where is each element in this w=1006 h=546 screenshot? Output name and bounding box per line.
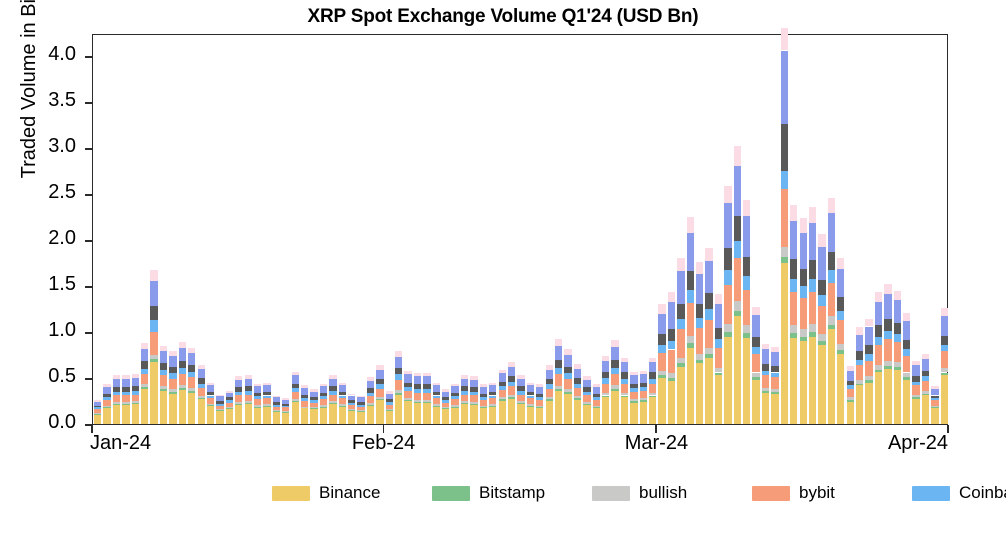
bar-segment-coinbase xyxy=(555,368,562,374)
bar-segment-bitstamp xyxy=(593,407,600,408)
stacked-bar xyxy=(141,343,148,424)
bar-segment-upbit xyxy=(621,362,628,372)
bar-segment-coinbase xyxy=(630,388,637,392)
bar-segment-okex xyxy=(169,367,176,373)
bar-segment-bybit xyxy=(357,407,364,411)
bar-segment-binance xyxy=(574,400,581,424)
legend-label: Bitstamp xyxy=(479,483,545,503)
bar-segment-bullish xyxy=(640,398,647,400)
bar-segment-binance xyxy=(649,397,656,424)
bar-segment-bitstamp xyxy=(790,333,797,338)
bar-segment-upbit xyxy=(931,389,938,395)
bar-segment-bybit xyxy=(649,384,656,393)
bar-segment-okex xyxy=(94,406,101,408)
bar-segment-coinbase xyxy=(818,295,825,306)
bar-segment-upbit xyxy=(461,379,468,386)
bar-segment-binance xyxy=(451,407,458,424)
stacked-bar xyxy=(931,386,938,424)
bar-segment-bullish xyxy=(546,397,553,399)
bar-segment-bybit xyxy=(903,356,910,373)
bar-segment-bullish xyxy=(423,400,430,402)
bar-segment-coinbase xyxy=(762,371,769,376)
y-tick-label: 0.5 xyxy=(48,365,76,388)
bar-segment-bitstamp xyxy=(376,399,383,400)
bar-segment-okex xyxy=(865,345,872,354)
bar-segment-bitstamp xyxy=(809,332,816,337)
bar-segment-coinbase xyxy=(828,270,835,283)
bar-segment-bybit xyxy=(743,290,750,325)
bar-segment-bitstamp xyxy=(640,400,647,402)
bar-segment-binance xyxy=(254,407,261,424)
bar-segment-bullish xyxy=(856,380,863,384)
bar-segment-bitstamp xyxy=(564,392,571,394)
bar-segment-okex xyxy=(884,319,891,331)
bar-segment-okex xyxy=(583,387,590,392)
bar-segment-bullish xyxy=(480,406,487,408)
bar-segment-others xyxy=(602,356,609,361)
bar-segment-upbit xyxy=(564,355,571,367)
bar-segment-others xyxy=(301,385,308,388)
stacked-bar xyxy=(254,384,261,424)
legend-item-coinbase[interactable]: Coinbase xyxy=(912,483,1006,503)
bar-segment-okex xyxy=(442,397,449,400)
bar-segment-bitstamp xyxy=(602,396,609,398)
bar-segment-coinbase xyxy=(395,374,402,380)
bar-segment-coinbase xyxy=(235,392,242,396)
bar-segment-binance xyxy=(461,404,468,424)
bar-segment-bybit xyxy=(640,391,647,398)
bar-segment-bybit xyxy=(263,398,270,404)
bar-segment-upbit xyxy=(301,388,308,394)
bar-segment-okex xyxy=(941,336,948,345)
bar-segment-others xyxy=(160,346,167,352)
stacked-bar xyxy=(715,294,722,424)
bar-segment-coinbase xyxy=(593,397,600,400)
bar-segment-bullish xyxy=(207,404,214,405)
bar-segment-others xyxy=(188,348,195,354)
bar-segment-bullish xyxy=(470,402,477,404)
stacked-bar xyxy=(367,377,374,424)
bar-segment-bitstamp xyxy=(677,363,684,367)
bar-segment-okex xyxy=(499,382,506,387)
bar-segment-bybit xyxy=(499,390,506,397)
bar-segment-upbit xyxy=(640,374,647,382)
bar-segment-binance xyxy=(781,263,788,424)
bar-segment-bitstamp xyxy=(818,341,825,345)
bar-segment-bullish xyxy=(310,407,317,408)
bar-segment-bitstamp xyxy=(254,407,261,408)
bar-segment-bybit xyxy=(367,396,374,402)
y-tick-label: 1.5 xyxy=(48,273,76,296)
bar-segment-binance xyxy=(442,409,449,424)
bar-segment-binance xyxy=(621,397,628,424)
bar-segment-others xyxy=(847,366,854,371)
bar-segment-coinbase xyxy=(734,241,741,258)
bar-segment-upbit xyxy=(922,359,929,371)
stacked-bar xyxy=(809,207,816,424)
bar-segment-bitstamp xyxy=(865,380,872,383)
bar-segment-bitstamp xyxy=(207,405,214,406)
bar-segment-binance xyxy=(499,401,506,424)
bar-segment-coinbase xyxy=(169,373,176,379)
bar-segment-upbit xyxy=(527,385,534,391)
bar-segment-okex xyxy=(141,361,148,368)
bar-segment-bullish xyxy=(583,402,590,404)
bar-segment-bybit xyxy=(226,403,233,408)
bar-segment-bitstamp xyxy=(903,377,910,380)
bar-segment-bitstamp xyxy=(499,399,506,401)
bar-segment-others xyxy=(687,217,694,233)
stacked-bar xyxy=(282,398,289,424)
y-tick-label: 3.5 xyxy=(48,89,76,112)
bar-segment-coinbase xyxy=(696,318,703,328)
bar-segment-bitstamp xyxy=(668,378,675,381)
bar-segment-others xyxy=(339,383,346,386)
bar-segment-coinbase xyxy=(527,396,534,399)
y-tick-label: 0.0 xyxy=(48,411,76,434)
stacked-bar xyxy=(611,340,618,424)
bar-segment-bitstamp xyxy=(113,404,120,405)
bar-segment-coinbase xyxy=(263,396,270,399)
bar-segment-coinbase xyxy=(245,391,252,395)
bar-segment-coinbase xyxy=(489,396,496,399)
bar-segment-okex xyxy=(658,334,665,345)
bar-segment-binance xyxy=(423,403,430,424)
legend-item-bitstamp[interactable]: Bitstamp xyxy=(432,483,592,503)
bar-segment-bitstamp xyxy=(856,384,863,386)
bar-segment-others xyxy=(790,205,797,221)
bar-segment-okex xyxy=(790,259,797,278)
bar-segment-bullish xyxy=(677,358,684,364)
bar-segment-bullish xyxy=(169,389,176,392)
bar-segment-okex xyxy=(188,365,195,371)
bar-segment-bullish xyxy=(301,407,308,408)
bar-segment-others xyxy=(216,395,223,397)
bar-segment-binance xyxy=(103,408,110,424)
bar-segment-upbit xyxy=(630,375,637,383)
bar-segment-upbit xyxy=(649,362,656,372)
bar-segment-binance xyxy=(489,407,496,424)
bar-segment-others xyxy=(480,384,487,387)
bar-segment-coinbase xyxy=(884,331,891,339)
bar-segment-bitstamp xyxy=(527,406,534,407)
legend-item-binance[interactable]: Binance xyxy=(272,483,432,503)
bar-segment-others xyxy=(451,384,458,387)
bar-segment-okex xyxy=(179,361,186,368)
bar-segment-bullish xyxy=(630,399,637,401)
bar-segment-others xyxy=(593,384,600,387)
bar-segment-coinbase xyxy=(216,404,223,406)
bar-segment-bullish xyxy=(160,386,167,389)
bar-segment-okex xyxy=(310,397,317,400)
bar-segment-bitstamp xyxy=(301,407,308,408)
legend-item-bybit[interactable]: bybit xyxy=(752,483,912,503)
bar-segment-coinbase xyxy=(329,391,336,395)
legend-item-bullish[interactable]: bullish xyxy=(592,483,752,503)
bar-segment-okex xyxy=(376,379,383,385)
bar-segment-others xyxy=(414,373,421,377)
bar-segment-upbit xyxy=(386,394,393,400)
bar-segment-bybit xyxy=(696,328,703,354)
stacked-bar xyxy=(837,258,844,424)
bar-segment-binance xyxy=(583,405,590,424)
bar-segment-bitstamp xyxy=(245,403,252,404)
bar-segment-bybit xyxy=(254,399,261,405)
bar-segment-bullish xyxy=(132,401,139,403)
stacked-bar xyxy=(922,354,929,424)
bar-segment-okex xyxy=(818,280,825,296)
bar-segment-bybit xyxy=(160,375,167,386)
bar-segment-bybit xyxy=(489,398,496,404)
bar-segment-others xyxy=(912,361,919,366)
bar-segment-bullish xyxy=(188,388,195,391)
bar-segment-bullish xyxy=(564,389,571,392)
bar-segment-coinbase xyxy=(254,396,261,399)
bar-segment-okex xyxy=(357,402,364,405)
bar-segment-binance xyxy=(856,385,863,424)
bar-segment-upbit xyxy=(941,316,948,335)
bar-segment-others xyxy=(235,376,242,380)
bar-segment-binance xyxy=(658,378,665,424)
stacked-bar xyxy=(188,348,195,424)
bar-segment-others xyxy=(517,375,524,379)
stacked-bar xyxy=(489,383,496,424)
bar-segment-coinbase xyxy=(705,309,712,320)
bar-segment-upbit xyxy=(790,221,797,260)
bar-segment-binance xyxy=(198,399,205,424)
bar-segment-bitstamp xyxy=(480,407,487,408)
bar-segment-bybit xyxy=(724,285,731,324)
stacked-bar xyxy=(649,358,656,424)
bar-segment-coinbase xyxy=(800,286,807,298)
bar-segment-others xyxy=(828,198,835,214)
bar-segment-upbit xyxy=(198,369,205,378)
bar-segment-bullish xyxy=(517,401,524,403)
bar-segment-coinbase xyxy=(574,384,581,389)
bar-segment-bybit xyxy=(198,388,205,396)
bar-segment-bitstamp xyxy=(583,404,590,405)
bar-segment-okex xyxy=(320,393,327,397)
bar-segment-upbit xyxy=(800,233,807,269)
bar-segment-upbit xyxy=(113,379,120,387)
bar-segment-okex xyxy=(508,376,515,382)
bar-segment-coinbase xyxy=(320,396,327,399)
bar-segment-bybit xyxy=(386,405,393,410)
bar-segment-bitstamp xyxy=(292,401,299,402)
stacked-bar xyxy=(451,384,458,424)
bar-segment-binance xyxy=(301,408,308,424)
bar-segment-okex xyxy=(687,271,694,289)
bar-segment-bybit xyxy=(658,353,665,370)
bar-segment-coinbase xyxy=(113,392,120,396)
legend-label: Coinbase xyxy=(959,483,1006,503)
bar-segment-okex xyxy=(433,392,440,396)
bar-segment-upbit xyxy=(179,348,186,361)
bar-segment-upbit xyxy=(762,349,769,364)
legend-label: bullish xyxy=(639,483,687,503)
stacked-bar xyxy=(536,384,543,424)
bar-segment-okex xyxy=(574,378,581,384)
bar-segment-upbit xyxy=(574,369,581,378)
bar-segment-others xyxy=(809,207,816,223)
bar-segment-bybit xyxy=(593,400,600,406)
bar-segment-okex xyxy=(103,394,110,398)
bar-segment-bybit xyxy=(517,395,524,401)
bar-segment-okex xyxy=(912,376,919,382)
stacked-bar xyxy=(423,372,430,424)
bar-segment-upbit xyxy=(282,400,289,404)
bar-segment-upbit xyxy=(583,380,590,387)
bar-segment-coinbase xyxy=(310,400,317,403)
bar-segment-coinbase xyxy=(376,384,383,389)
bar-segment-bybit xyxy=(611,374,618,385)
bar-segment-coinbase xyxy=(865,354,872,360)
bar-segment-bybit xyxy=(207,398,214,404)
bar-segment-others xyxy=(875,292,882,302)
stacked-bar xyxy=(132,374,139,424)
bar-segment-upbit xyxy=(160,351,167,363)
bar-segment-bullish xyxy=(216,409,223,410)
bar-segment-bullish xyxy=(150,355,157,359)
y-tick-label: 1.0 xyxy=(48,319,76,342)
bar-segment-bitstamp xyxy=(169,392,176,394)
bar-segment-others xyxy=(696,262,703,274)
bar-segment-coinbase xyxy=(847,385,854,389)
bar-segment-others xyxy=(630,372,637,376)
bar-segment-binance xyxy=(546,401,553,424)
chart-figure: XRP Spot Exchange Volume Q1'24 (USD Bn) … xyxy=(0,0,1006,546)
bar-segment-bitstamp xyxy=(762,391,769,393)
bar-segment-binance xyxy=(828,329,835,424)
bar-segment-bybit xyxy=(828,283,835,316)
bar-segment-others xyxy=(132,374,139,378)
bar-segment-binance xyxy=(527,407,534,424)
bar-segment-bybit xyxy=(922,381,929,391)
stacked-bar xyxy=(198,365,205,424)
bar-segment-bitstamp xyxy=(658,375,665,378)
bar-segment-bitstamp xyxy=(132,403,139,404)
bar-segment-coinbase xyxy=(122,392,129,396)
bar-segment-upbit xyxy=(611,347,618,360)
bar-segment-binance xyxy=(386,411,393,424)
bar-segment-coinbase xyxy=(207,396,214,399)
bar-segment-bullish xyxy=(818,334,825,341)
bar-segment-okex xyxy=(705,293,712,309)
bar-segment-bullish xyxy=(141,384,148,387)
bar-segment-bybit xyxy=(216,406,223,410)
bar-segment-bybit xyxy=(621,384,628,393)
bar-segment-coinbase xyxy=(132,391,139,395)
stacked-bar xyxy=(696,262,703,424)
stacked-bar xyxy=(630,372,637,424)
bar-segment-bullish xyxy=(743,325,750,333)
bar-segment-okex xyxy=(922,371,929,377)
bar-segment-upbit xyxy=(743,216,750,256)
bar-segment-bybit xyxy=(800,298,807,329)
bar-segment-bybit xyxy=(320,399,327,405)
bar-segment-upbit xyxy=(329,379,336,386)
bar-segment-bitstamp xyxy=(122,404,129,405)
bar-segment-okex xyxy=(470,387,477,392)
bar-segment-bullish xyxy=(329,401,336,403)
bar-segment-bitstamp xyxy=(367,405,374,406)
bar-segment-coinbase xyxy=(348,403,355,405)
bar-segment-upbit xyxy=(348,396,355,401)
bar-segment-others xyxy=(150,270,157,281)
bar-segment-bitstamp xyxy=(235,404,242,405)
bar-segment-bybit xyxy=(301,401,308,407)
stacked-bar xyxy=(179,342,186,424)
bar-segment-okex xyxy=(696,304,703,318)
bar-segment-okex xyxy=(677,304,684,319)
bar-segment-binance xyxy=(292,402,299,424)
bar-segment-coinbase xyxy=(771,373,778,378)
bar-segment-bybit xyxy=(188,377,195,388)
bar-segment-upbit xyxy=(658,314,665,334)
stacked-bar xyxy=(320,384,327,424)
bar-segment-bitstamp xyxy=(141,387,148,389)
legend-label: Binance xyxy=(319,483,380,503)
bar-segment-bybit xyxy=(179,374,186,385)
bar-segment-bitstamp xyxy=(800,337,807,342)
bar-segment-coinbase xyxy=(790,279,797,292)
bar-segment-bullish xyxy=(724,324,731,332)
bar-segment-bullish xyxy=(800,329,807,336)
bar-segment-binance xyxy=(705,358,712,424)
bar-segment-upbit xyxy=(122,379,129,387)
stacked-bar xyxy=(207,383,214,424)
bar-segment-bybit xyxy=(630,392,637,399)
bar-segment-okex xyxy=(715,328,722,339)
bar-segment-bullish xyxy=(705,348,712,354)
bar-segment-okex xyxy=(348,400,355,403)
bar-segment-bybit xyxy=(169,379,176,389)
stacked-bar xyxy=(574,364,581,424)
stacked-bar xyxy=(724,186,731,424)
bar-segment-bitstamp xyxy=(348,410,355,411)
bar-segment-others xyxy=(762,344,769,350)
bar-segment-bybit xyxy=(536,400,543,406)
bar-segment-bullish xyxy=(865,376,872,380)
stacked-bar xyxy=(847,366,854,424)
bar-segment-okex xyxy=(273,402,280,405)
bar-segment-coinbase xyxy=(442,400,449,403)
bar-segment-bitstamp xyxy=(357,411,364,412)
bar-segment-okex xyxy=(245,386,252,391)
bar-segment-coinbase xyxy=(602,378,609,384)
stacked-bar xyxy=(480,384,487,424)
bar-segment-okex xyxy=(489,392,496,396)
bar-segment-binance xyxy=(404,401,411,424)
bar-segment-bybit xyxy=(103,400,110,406)
bar-segment-others xyxy=(856,327,863,334)
bar-segment-okex xyxy=(771,366,778,372)
bar-segment-binance xyxy=(555,391,562,424)
bar-segment-bitstamp xyxy=(470,404,477,405)
bar-segment-coinbase xyxy=(922,376,929,381)
bar-segment-binance xyxy=(282,413,289,424)
bar-segment-bybit xyxy=(292,392,299,399)
bar-segment-okex xyxy=(132,386,139,391)
bar-segment-binance xyxy=(207,406,214,424)
bar-segment-bitstamp xyxy=(536,407,543,408)
stacked-bar xyxy=(94,400,101,424)
stacked-bar xyxy=(442,389,449,424)
x-tick-label: Mar-24 xyxy=(625,432,688,455)
bar-segment-bitstamp xyxy=(828,325,835,330)
stacked-bar xyxy=(658,304,665,424)
bar-segment-okex xyxy=(395,368,402,374)
